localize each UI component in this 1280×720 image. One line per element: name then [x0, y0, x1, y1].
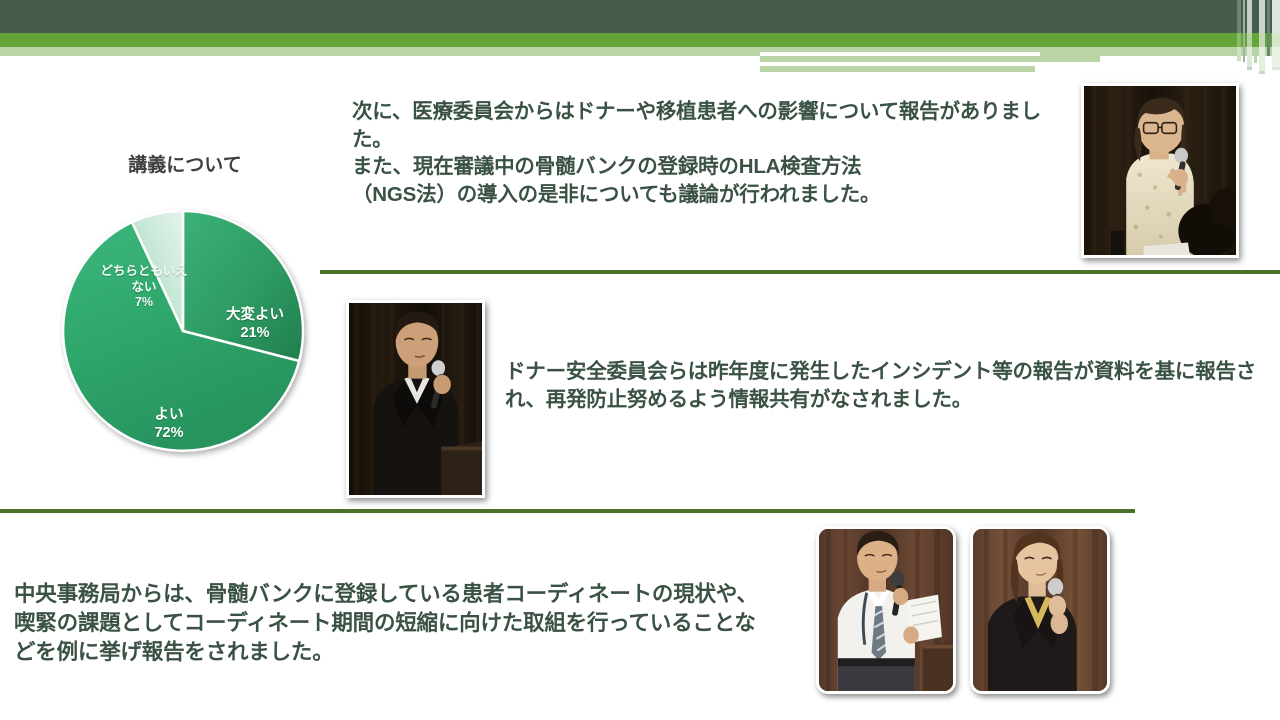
header-vertical-stripe	[1267, 0, 1270, 56]
photo-woman-speaker-graphic	[1084, 86, 1236, 255]
header-vertical-stripe-green	[1272, 33, 1280, 47]
header-vertical-stripe-green	[1247, 33, 1252, 47]
header-decoration	[0, 0, 1280, 56]
pie-label-yoi-name: よい	[155, 407, 184, 423]
header-vertical-stripe-pale	[1247, 47, 1252, 67]
text-block-medical-committee: 次に、医療委員会からはドナーや移植患者への影響について報告がありました。 また、…	[352, 98, 1052, 209]
header-vertical-stripe-green	[1237, 33, 1241, 47]
pie-chart: 大変よい 21% よい 72% どちらともいえない 7%	[58, 206, 308, 456]
pie-label-dochiratomo-ienai: どちらともいえない 7%	[96, 264, 192, 311]
photo-woman-suit	[970, 526, 1110, 694]
header-vertical-stripe-pale	[1254, 47, 1257, 63]
photo-man-suit-graphic	[349, 303, 482, 495]
pie-label-yoi: よい 72%	[126, 406, 212, 442]
header-vertical-stripe-pale	[1259, 47, 1265, 71]
header-vertical-stripe-green	[1259, 33, 1265, 47]
pie-label-daihen-yoi-value: 21%	[208, 324, 302, 342]
header-vertical-stripe-pale	[1272, 47, 1280, 67]
pie-label-dochiratomo-ienai-value: 7%	[96, 295, 192, 311]
text-block-donor-safety-committee: ドナー安全委員会らは昨年度に発生したインシデント等の報告が資料を基に報告され、再…	[505, 358, 1257, 413]
photo-woman-speaker	[1081, 83, 1239, 258]
header-band-bright	[0, 33, 1280, 47]
photo-man-suit	[346, 300, 485, 498]
divider-top	[320, 270, 1280, 274]
pie-label-yoi-value: 72%	[126, 424, 212, 442]
chart-title: 講義について	[40, 150, 330, 177]
photo-woman-suit-graphic	[973, 529, 1107, 691]
header-vertical-stripe-pale	[1237, 47, 1241, 61]
pie-label-daihen-yoi-name: 大変よい	[226, 307, 284, 323]
header-band-pale	[0, 47, 1280, 56]
pie-label-daihen-yoi: 大変よい 21%	[208, 306, 302, 342]
header-accent-line-pale-2	[760, 66, 1035, 72]
text-block-central-office: 中央事務局からは、骨髄バンクに登録している患者コーディネートの現状や、喫緊の課題…	[14, 580, 774, 667]
header-vertical-stripe-green	[1254, 33, 1257, 47]
pie-label-dochiratomo-ienai-name: どちらともいえない	[100, 264, 187, 294]
header-vertical-stripe	[1243, 0, 1245, 62]
photo-man-shirt	[816, 526, 956, 694]
photo-man-shirt-graphic	[819, 529, 953, 691]
divider-bottom	[0, 509, 1135, 513]
header-band-dark	[0, 0, 1280, 33]
pie-chart-block: 講義について	[40, 150, 330, 460]
